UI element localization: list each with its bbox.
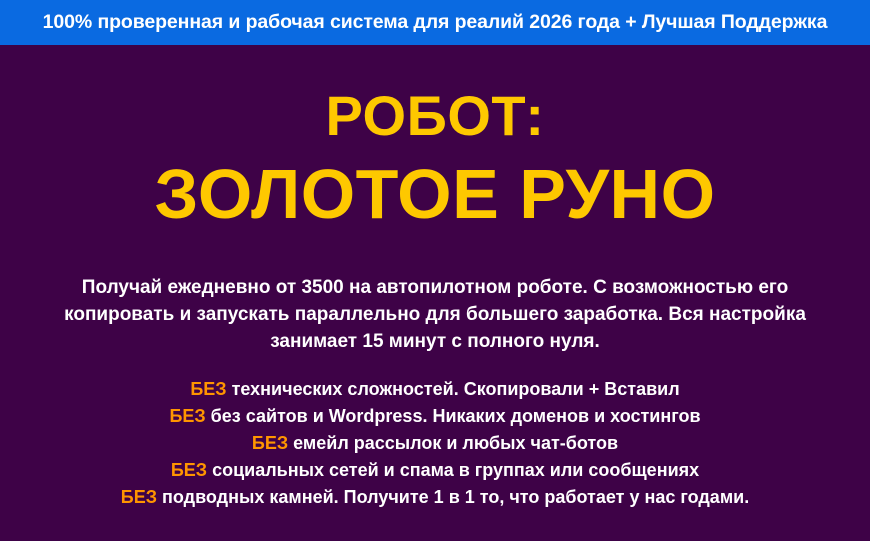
description-line: копировать и запускать параллельно для б…	[0, 301, 870, 328]
list-item: БЕЗ социальных сетей и спама в группах и…	[0, 457, 870, 484]
hero-section: РОБОТ: ЗОЛОТОЕ РУНО	[0, 45, 870, 231]
benefit-text: без сайтов и Wordpress. Никаких доменов …	[206, 406, 701, 426]
benefit-text: социальных сетей и спама в группах или с…	[207, 460, 699, 480]
benefit-keyword: БЕЗ	[252, 433, 288, 453]
list-item: БЕЗ подводных камней. Получите 1 в 1 то,…	[0, 484, 870, 511]
benefit-keyword: БЕЗ	[190, 379, 226, 399]
benefit-text: подводных камней. Получите 1 в 1 то, что…	[157, 487, 749, 507]
hero-title-line-2: ЗОЛОТОЕ РУНО	[0, 146, 870, 232]
description-line: Получай ежедневно от 3500 на автопилотно…	[0, 274, 870, 301]
hero-title-line-1: РОБОТ:	[0, 45, 870, 146]
benefit-text: технических сложностей. Скопировали + Вс…	[227, 379, 680, 399]
description-paragraph: Получай ежедневно от 3500 на автопилотно…	[0, 274, 870, 355]
list-item: БЕЗ без сайтов и Wordpress. Никаких доме…	[0, 403, 870, 430]
benefit-keyword: БЕЗ	[169, 406, 205, 426]
promo-page: 100% проверенная и рабочая система для р…	[0, 0, 870, 541]
benefits-list: БЕЗ технических сложностей. Скопировали …	[0, 376, 870, 511]
top-banner: 100% проверенная и рабочая система для р…	[0, 0, 870, 45]
top-banner-text: 100% проверенная и рабочая система для р…	[43, 13, 828, 33]
list-item: БЕЗ емейл рассылок и любых чат-ботов	[0, 430, 870, 457]
benefit-keyword: БЕЗ	[171, 460, 207, 480]
benefit-keyword: БЕЗ	[121, 487, 157, 507]
list-item: БЕЗ технических сложностей. Скопировали …	[0, 376, 870, 403]
benefit-text: емейл рассылок и любых чат-ботов	[288, 433, 618, 453]
description-line: занимает 15 минут с полного нуля.	[0, 328, 870, 355]
